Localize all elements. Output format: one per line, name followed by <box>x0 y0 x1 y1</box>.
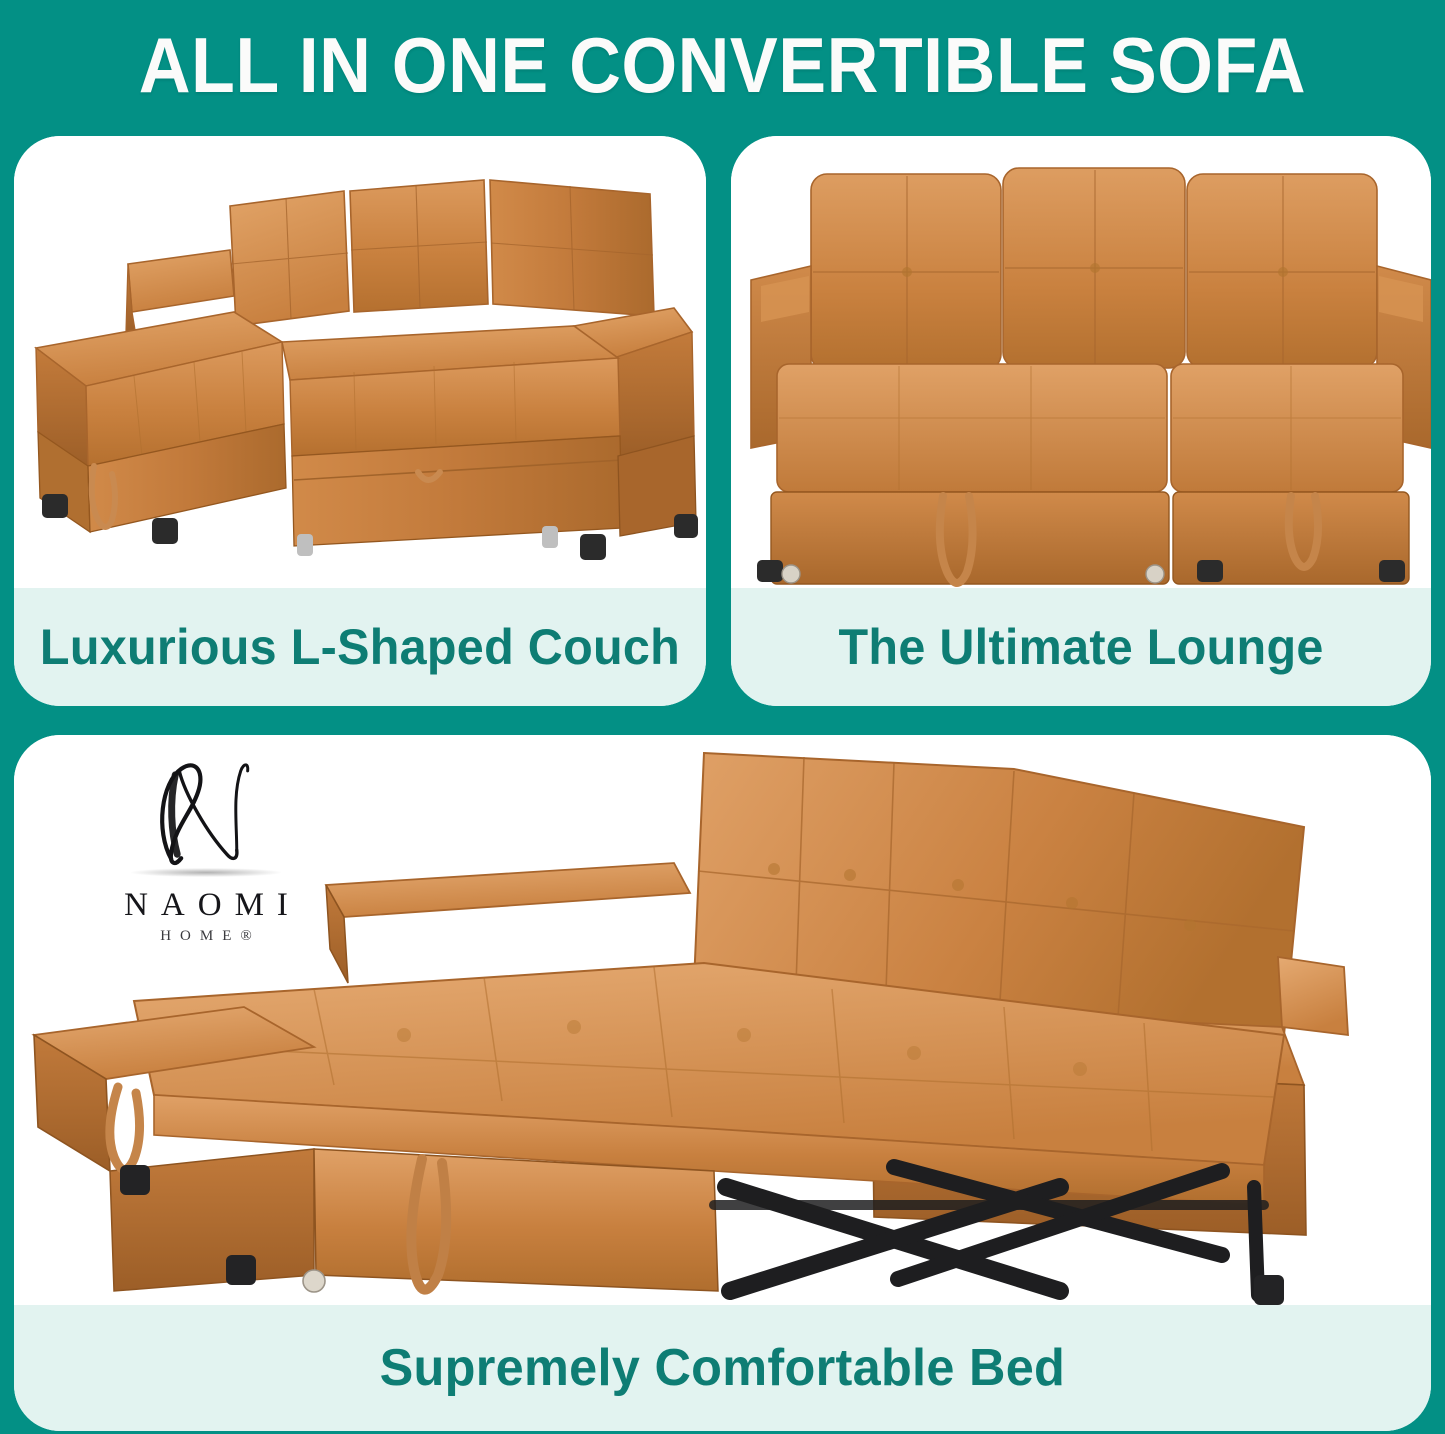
caption-text-l-shaped: Luxurious L-Shaped Couch <box>40 618 680 676</box>
main-seat <box>282 326 620 456</box>
header-banner: ALL IN ONE CONVERTIBLE SOFA <box>0 0 1445 130</box>
metal-bed-frame <box>714 1167 1264 1295</box>
sofa-bed-illustration <box>14 735 1431 1305</box>
main-storage-base <box>292 436 622 546</box>
caption-bar-bed: Supremely Comfortable Bed <box>14 1305 1431 1431</box>
product-photo-bed: NAOMI HOME® <box>14 735 1431 1305</box>
lounge-sofa-illustration <box>731 136 1431 588</box>
panel-ultimate-lounge[interactable]: The Ultimate Lounge <box>731 136 1431 706</box>
page-title: ALL IN ONE CONVERTIBLE SOFA <box>139 20 1306 111</box>
back-cushions <box>230 180 654 326</box>
caption-bar-l-shaped: Luxurious L-Shaped Couch <box>14 588 706 706</box>
back-cushions <box>811 168 1377 370</box>
seat-cushions <box>777 364 1403 492</box>
infographic-canvas: ALL IN ONE CONVERTIBLE SOFA <box>0 0 1445 1434</box>
product-photo-lounge <box>731 136 1431 588</box>
panel-l-shaped-couch[interactable]: Luxurious L-Shaped Couch <box>14 136 706 706</box>
pullout-base <box>771 492 1409 584</box>
panel-comfortable-bed[interactable]: NAOMI HOME® <box>14 735 1431 1431</box>
left-armrest <box>326 863 690 983</box>
caption-bar-lounge: The Ultimate Lounge <box>731 588 1431 706</box>
caption-text-bed: Supremely Comfortable Bed <box>380 1338 1066 1398</box>
l-shaped-sofa-illustration <box>14 136 706 588</box>
caption-text-lounge: The Ultimate Lounge <box>838 618 1323 676</box>
product-photo-l-shaped <box>14 136 706 588</box>
